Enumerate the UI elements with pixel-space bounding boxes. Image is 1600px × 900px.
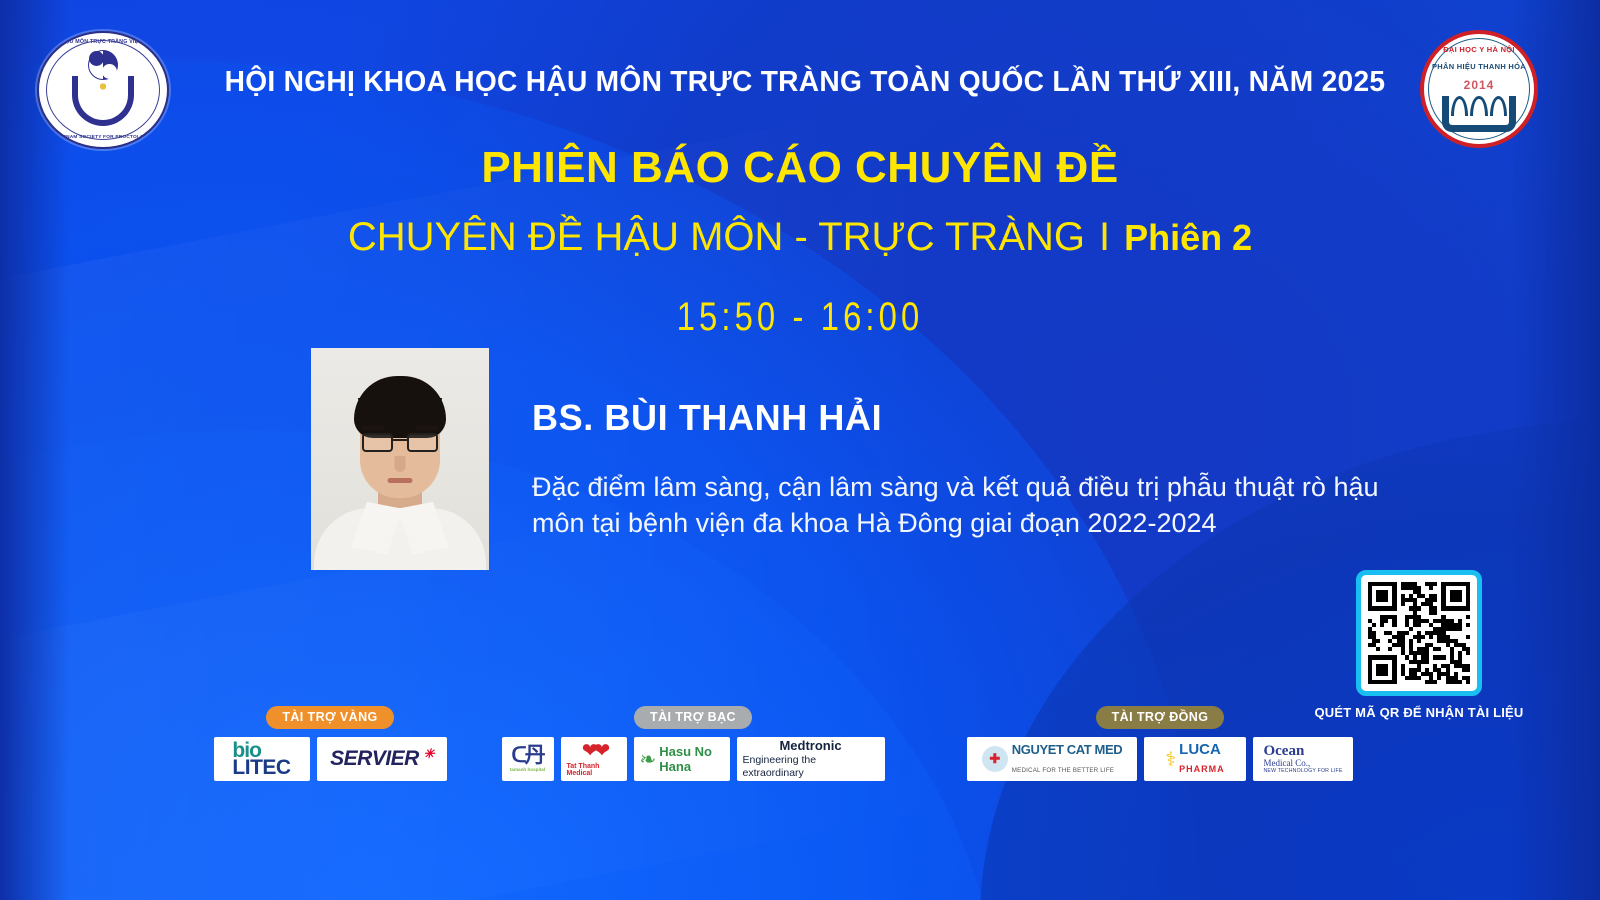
tatthanh-text: Tat Thanh Medical [567,763,621,777]
speaker-portrait [311,348,489,570]
session-time: 15:50 - 16:00 [144,295,1456,340]
society-logo-bottom-text: VIETNAM SOCIETY FOR PROCTOLOGY [39,135,167,140]
ocean-name: Ocean [1263,743,1304,760]
sponsor-group-bronze: TÀI TRỢ ĐỒNG ✚ NGUYET CAT MED MEDICAL FO… [965,706,1355,781]
session-topic: CHUYÊN ĐỀ HẬU MÔN - TRỰC TRÀNG [348,215,1085,259]
university-logo-line2: PHÂN HIỆU THANH HÓA [1424,62,1534,71]
society-logo: HỘI HẬU MÔN TRỰC TRÀNG VIỆT NAM 1999 VIE… [37,31,181,151]
sponsor-tier-silver-label: TÀI TRỢ BẠC [634,706,752,729]
hasu-text: Hasu No Hana [659,744,723,774]
talk-title: Đặc điểm lâm sàng, cận lâm sàng và kết q… [532,470,1412,542]
qr-code-pattern [1368,582,1470,684]
society-logo-year: 1999 [39,118,167,127]
sponsor-logo-servier: SERVIER✳ [317,737,447,781]
sponsor-logo-tam-anh-hospital: ᑕ丹tamanh hospital [502,737,554,781]
sponsor-group-gold: TÀI TRỢ VÀNG bio LITEC SERVIER✳ [205,706,455,781]
speaker-name: BS. BÙI THANH HẢI [532,397,882,439]
nguyetcat-tagline: MEDICAL FOR THE BETTER LIFE [1012,767,1114,774]
sponsor-logo-nguyet-cat-med: ✚ NGUYET CAT MED MEDICAL FOR THE BETTER … [967,737,1137,781]
nurse-cap-icon: ✚ [982,746,1008,772]
ocean-name-text: cean [1275,743,1304,759]
session-number: Phiên 2 [1124,217,1252,258]
medtronic-tagline: Engineering the extraordinary [743,754,879,780]
conference-title: HỘI NGHỊ KHOA HỌC HẬU MÔN TRỰC TRÀNG TOÀ… [218,66,1392,99]
university-logo-line1: ĐẠI HỌC Y HÀ NỘI [1424,45,1534,54]
qr-code[interactable] [1356,570,1482,696]
sponsor-logo-ocean-medical: Ocean Medical Co., NEW TECHNOLOGY FOR LI… [1253,737,1353,781]
arch-icon [1451,94,1507,116]
tamanh-mark-icon: ᑕ丹 [511,745,543,766]
session-heading: PHIÊN BÁO CÁO CHUYÊN ĐỀ [0,143,1600,193]
ocean-tagline: NEW TECHNOLOGY FOR LIFE [1263,769,1342,775]
session-subheading: CHUYÊN ĐỀ HẬU MÔN - TRỰC TRÀNGIPhiên 2 [0,215,1600,260]
spark-icon [97,80,110,93]
sponsor-logo-tat-thanh-medical: ❤❤Tat Thanh Medical [561,737,627,781]
biolitec-line2: LITEC [232,758,290,777]
society-logo-top-text: HỘI HẬU MÔN TRỰC TRÀNG VIỆT NAM [39,39,167,45]
sponsor-logo-medtronic: Medtronic Engineering the extraordinary [737,737,885,781]
sponsor-tier-bronze-label: TÀI TRỢ ĐỒNG [1096,706,1225,729]
sponsor-group-silver: TÀI TRỢ BẠC ᑕ丹tamanh hospital ❤❤Tat Than… [498,706,888,781]
sponsor-logo-biolitec: bio LITEC [214,737,310,781]
servier-star-icon: ✳ [423,746,433,762]
sponsor-logo-hasu-no-hana: ❧Hasu No Hana [634,737,730,781]
university-logo: ĐẠI HỌC Y HÀ NỘI PHÂN HIỆU THANH HÓA 201… [1420,30,1540,150]
medtronic-name: Medtronic [779,738,841,754]
sponsor-logo-luca-pharma: ⚕ LUCA PHARMA [1144,737,1246,781]
nguyetcat-name: NGUYET CAT MED [1012,742,1122,757]
luca-name: LUCA [1179,741,1221,758]
tamanh-text: tamanh hospital [510,768,545,773]
session-separator: I [1099,215,1110,259]
servier-text: SERVIER [330,747,419,770]
glasses-icon [362,432,438,452]
sponsor-tier-gold-label: TÀI TRỢ VÀNG [266,706,393,729]
luca-subname: PHARMA [1179,764,1225,774]
conference-session-slide: HỘI HẬU MÔN TRỰC TRÀNG VIỆT NAM 1999 VIE… [0,0,1600,900]
university-logo-year: 2014 [1424,78,1534,92]
butterfly-cross-icon: ⚕ [1165,747,1176,772]
leaf-icon: ❧ [640,747,657,772]
heart-icon: ❤❤ [582,741,606,761]
